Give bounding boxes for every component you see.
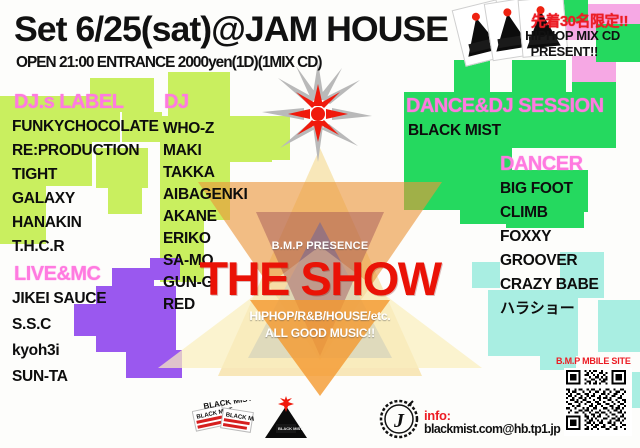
black-mist-triangle-logo: BLACK MIST bbox=[262, 396, 310, 440]
list-item: FUNKYCHOCOLATE bbox=[12, 118, 159, 135]
starburst-icon bbox=[258, 62, 378, 170]
section-title-dj: DJ bbox=[164, 92, 189, 112]
promo-line-2: PRESENT!! bbox=[531, 44, 598, 59]
list-item: BIG FOOT bbox=[500, 180, 573, 197]
section-title-dancer: DANCER bbox=[500, 154, 583, 174]
main-title: THE SHOW bbox=[0, 255, 640, 302]
list-item: WHO-Z bbox=[163, 120, 214, 137]
list-item: SUN-TA bbox=[12, 368, 68, 385]
page-title: Set 6/25(sat)@JAM HOUSE bbox=[14, 12, 448, 47]
qr-code[interactable] bbox=[564, 368, 632, 436]
presence-label: B.M.P PRESENCE bbox=[0, 240, 640, 252]
list-item: RE:PRODUCTION bbox=[12, 142, 139, 159]
list-item: GALAXY bbox=[12, 190, 75, 207]
jam-house-circle-logo: J bbox=[378, 398, 420, 440]
bg-block-yellowgreen-8 bbox=[108, 188, 142, 214]
qr-code-label: B.M.P MBILE SITE bbox=[556, 356, 631, 366]
list-item: HANAKIN bbox=[12, 214, 82, 231]
svg-text:J: J bbox=[393, 410, 405, 432]
section-title-dance-dj-session: DANCE&DJ SESSION bbox=[406, 96, 604, 116]
list-item: AIBAGENKI bbox=[163, 186, 247, 203]
svg-text:BLACK MIST: BLACK MIST bbox=[278, 426, 303, 431]
genre-list: HIPHOP/R&B/HOUSE/etc. bbox=[0, 309, 640, 323]
list-item: kyoh3i bbox=[12, 342, 59, 359]
list-item: TAKKA bbox=[163, 164, 215, 181]
black-mist-sticker-logo: BLACK MIST BLACK MIST BLACK MIST bbox=[192, 400, 254, 436]
list-item: MAKI bbox=[163, 142, 201, 159]
promo-line-1: HIPHOP MIX CD bbox=[525, 28, 620, 43]
tagline: ALL GOOD MUSIC!! bbox=[0, 326, 640, 340]
list-item: AKANE bbox=[163, 208, 217, 225]
list-item: BLACK MIST bbox=[408, 122, 501, 139]
event-details: OPEN 21:00 ENTRANCE 2000yen(1D)(1MIX CD) bbox=[16, 55, 322, 71]
list-item: TIGHT bbox=[12, 166, 57, 183]
list-item: CLIMB bbox=[500, 204, 548, 221]
bg-block-green-4 bbox=[512, 60, 566, 96]
flyer-canvas: Set 6/25(sat)@JAM HOUSE OPEN 21:00 ENTRA… bbox=[0, 0, 640, 448]
section-title-djs-label: DJ.s LABEL bbox=[14, 92, 123, 112]
contact-email: blackmist.com@hb.tp1.jp bbox=[424, 421, 560, 436]
